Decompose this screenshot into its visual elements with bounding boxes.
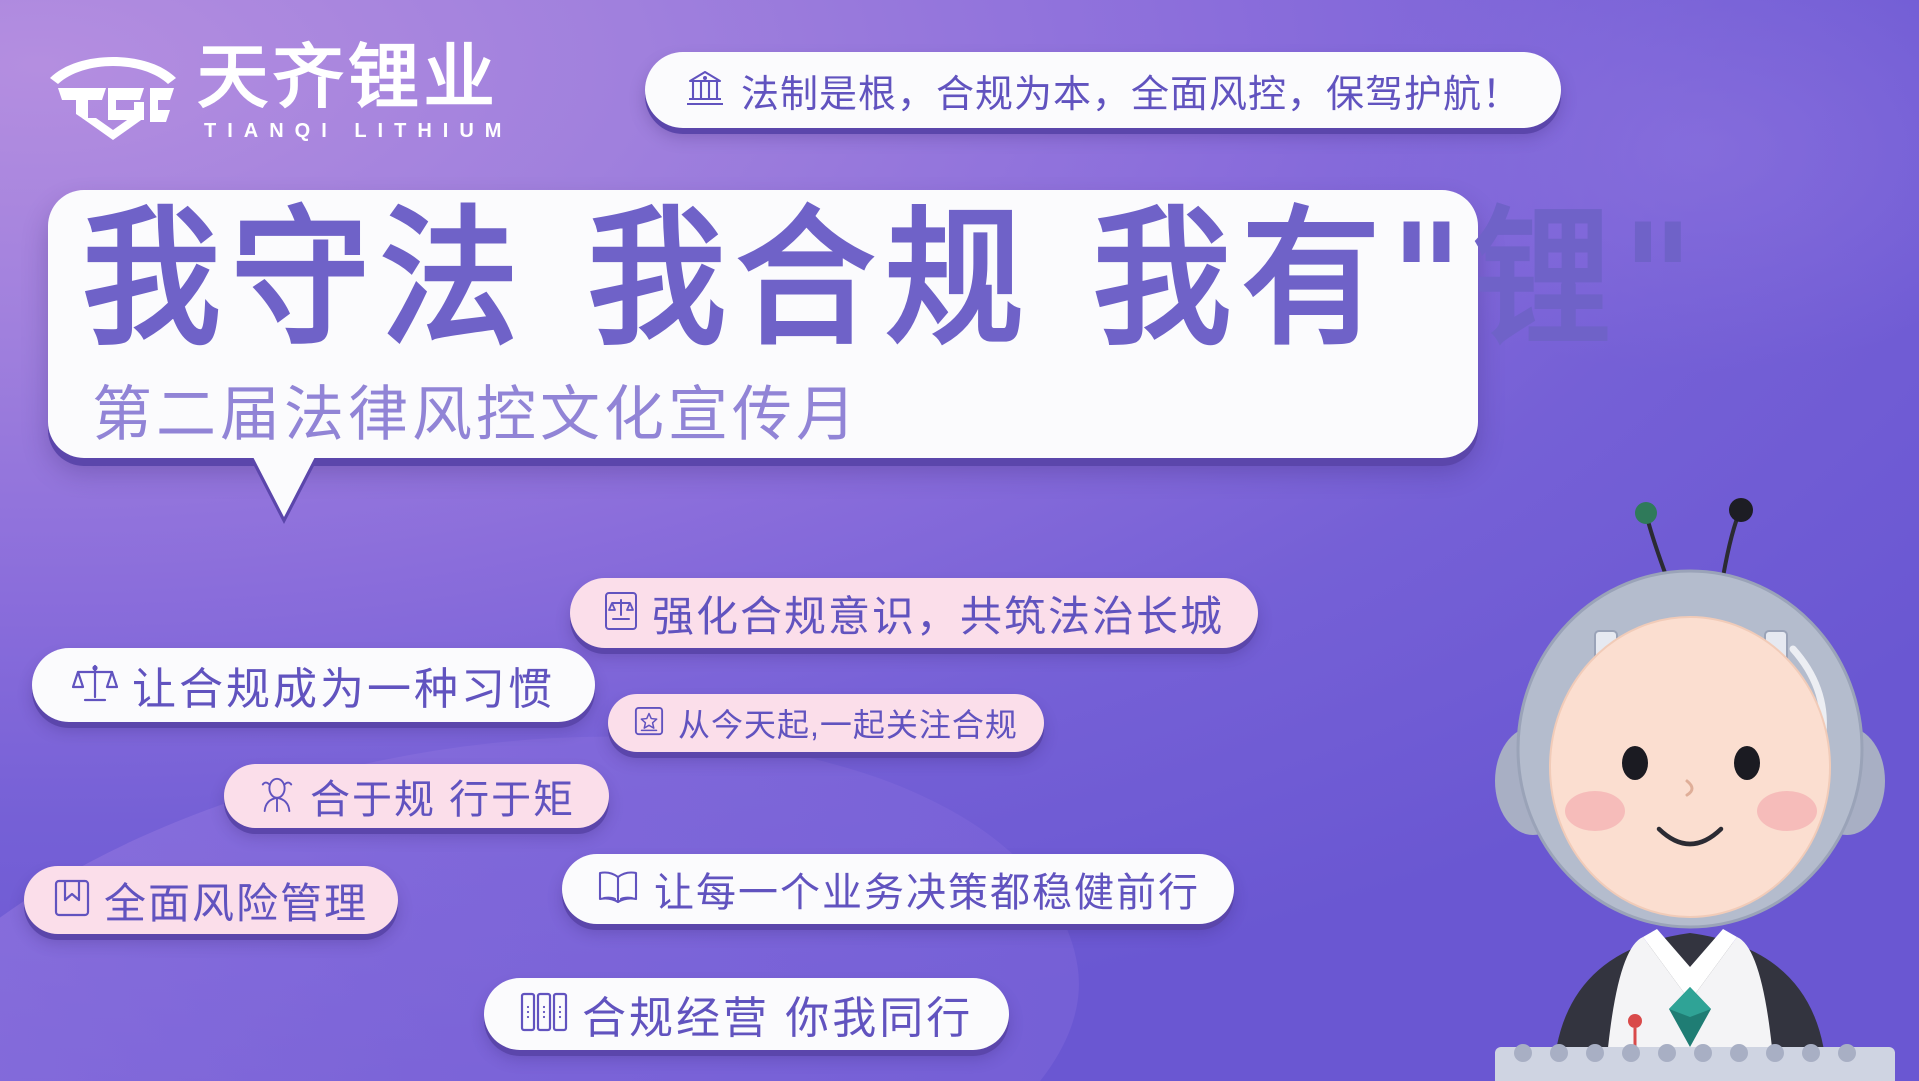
top-slogan-text: 法制是根，合规为本，全面风控，保驾护航！ <box>741 63 1521 118</box>
brand-name-en: TIANQI LITHIUM <box>200 120 512 143</box>
slogan-text: 让合规成为一种习惯 <box>132 653 555 717</box>
callout-pointer <box>252 455 316 517</box>
slogan-text: 合规经营 你我同行 <box>582 982 973 1046</box>
slogan-pill-habit: 让合规成为一种习惯 <box>32 648 595 722</box>
slogan-pill-operate: 合规经营 你我同行 <box>484 978 1009 1050</box>
slogan-pill-rule: 合于规 行于矩 <box>224 764 609 828</box>
slogan-text: 让每一个业务决策都稳健前行 <box>654 860 1200 918</box>
slogan-text: 强化合规意识，共筑法治长城 <box>652 583 1224 644</box>
slogan-text: 全面风险管理 <box>104 870 368 931</box>
slogan-pill-risk: 全面风险管理 <box>24 866 398 934</box>
poster-canvas: 天齐锂业 TIANQI LITHIUM 法制是根，合规为本，全面风控，保驾护航！… <box>0 0 1919 1081</box>
brand-name-cn: 天齐锂业 <box>197 44 516 111</box>
tqc-diamond-logo-icon <box>46 44 180 140</box>
slogan-text: 合于规 行于矩 <box>310 767 575 825</box>
scales-icon <box>72 661 118 710</box>
book-shelf-icon <box>520 991 568 1038</box>
page-subtitle: 第二届法律风控文化宣传月 <box>92 366 860 453</box>
brand-logo-wordmark: 天齐锂业 TIANQI LITHIUM <box>200 44 512 143</box>
scales-framed-icon <box>604 591 638 636</box>
open-book-icon <box>596 868 640 911</box>
bookmark-icon <box>54 878 90 923</box>
star-square-icon <box>634 706 664 741</box>
top-slogan-ribbon: 法制是根，合规为本，全面风控，保驾护航！ <box>645 52 1561 128</box>
main-callout-card: 我守法 我合规 我有"锂" 第二届法律风控文化宣传月 <box>48 190 1478 458</box>
slogan-pill-today: 从今天起,一起关注合规 <box>608 694 1044 752</box>
brand-logo: 天齐锂业 TIANQI LITHIUM <box>46 40 512 143</box>
slogan-pill-strengthen: 强化合规意识，共筑法治长城 <box>570 578 1258 648</box>
astronaut-baby-mascot <box>1475 481 1905 1081</box>
page-title: 我守法 我合规 我有"锂" <box>82 204 1486 357</box>
slogan-pill-decision: 让每一个业务决策都稳健前行 <box>562 854 1234 924</box>
slogan-text: 从今天起,一起关注合规 <box>678 700 1018 746</box>
judge-person-icon <box>258 775 296 818</box>
courthouse-icon <box>685 68 725 113</box>
